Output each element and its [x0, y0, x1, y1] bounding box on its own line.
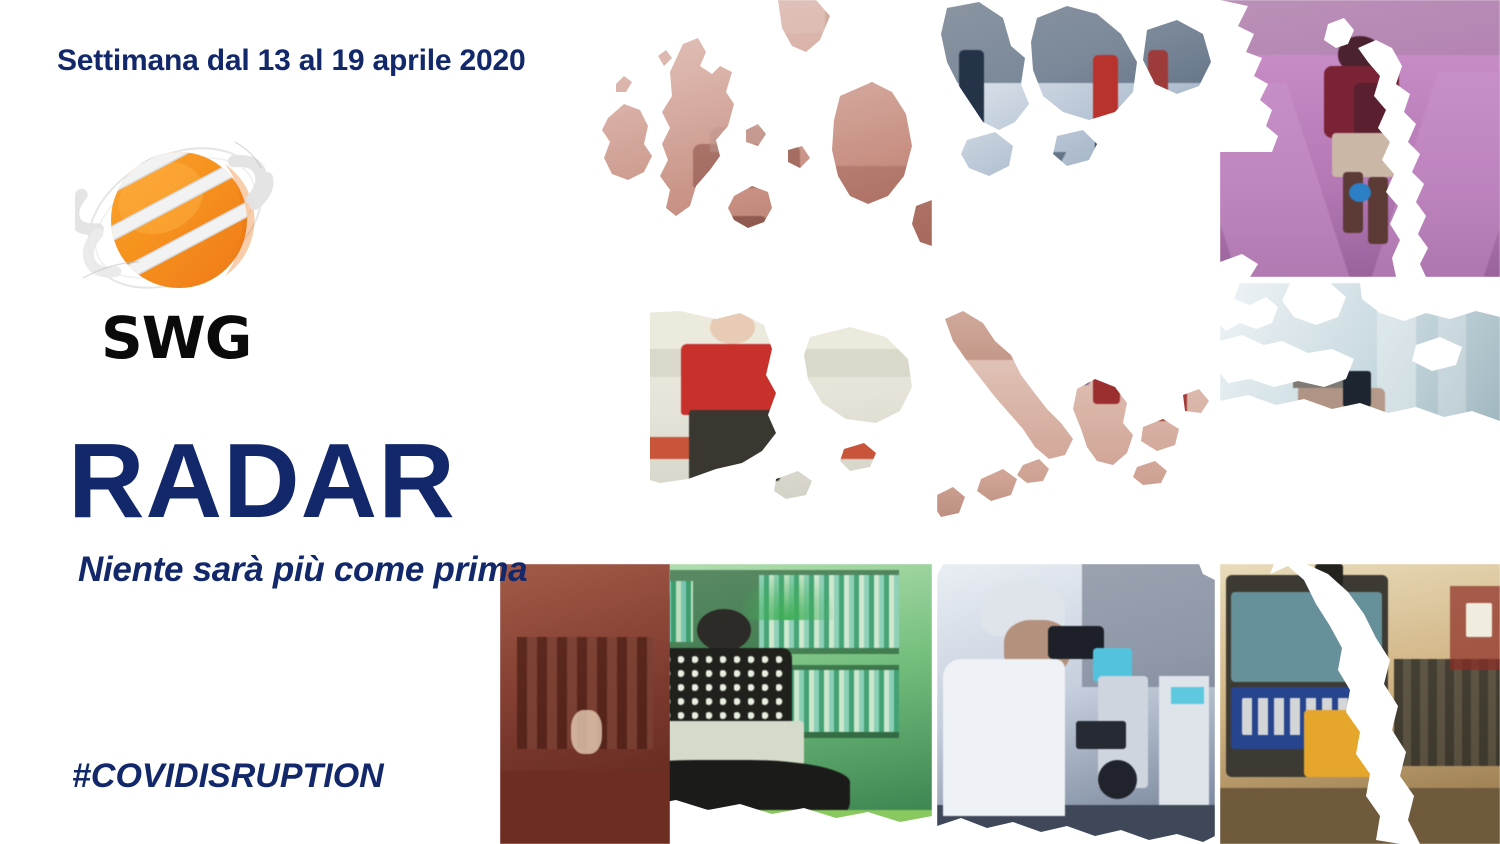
collage-tile-middle-center [937, 283, 1215, 558]
title-panel: Settimana dal 13 al 19 aprile 2020 [0, 0, 660, 844]
italy-greece-mask [937, 283, 1215, 558]
globe-icon [75, 128, 275, 308]
hashtag-label: #COVIDISRUPTION [72, 757, 384, 796]
europe-mask-top-right [1220, 0, 1500, 277]
week-label: Settimana dal 13 al 19 aprile 2020 [57, 44, 525, 78]
sea-mask-bottom-center [937, 564, 1215, 844]
collage-tile-bottom-right [1220, 564, 1500, 844]
collage-tile-top-right [1220, 0, 1500, 277]
page-title: RADAR [68, 428, 456, 534]
swg-wordmark: SWG [101, 304, 251, 372]
collage-tile-middle-right [1220, 283, 1500, 558]
turkey-mask-middle-right [1220, 283, 1500, 558]
collage-tile-top-center [937, 0, 1215, 277]
italy-coast-mask-bottom-right [1220, 564, 1500, 844]
slide-root: Settimana dal 13 al 19 aprile 2020 [0, 0, 1500, 844]
swg-logo: SWG [75, 128, 285, 363]
photo-collage [520, 0, 1500, 844]
europe-mask-top-center [937, 0, 1215, 277]
page-subtitle: Niente sarà più come prima [78, 550, 527, 590]
collage-tile-bottom-center [937, 564, 1215, 844]
